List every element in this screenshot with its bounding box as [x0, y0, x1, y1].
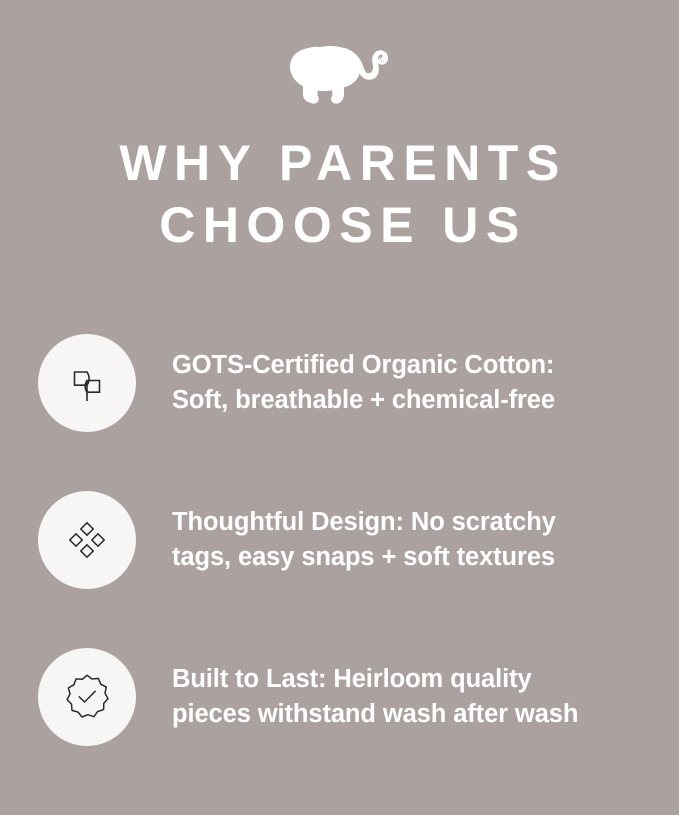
- check-badge-icon: [62, 672, 112, 722]
- brand-logo: [285, 38, 395, 110]
- benefits-list: GOTS-Certified Organic Cotton: Soft, bre…: [0, 334, 679, 746]
- page-title: WHY PARENTS CHOOSE US: [0, 132, 679, 256]
- benefit-icon-circle: [38, 491, 136, 589]
- benefit-icon-circle: [38, 334, 136, 432]
- benefit-text-line-1: Built to Last: Heirloom quality: [172, 665, 532, 693]
- page-title-line-2: CHOOSE US: [0, 194, 679, 256]
- benefit-item-thoughtful-design: Thoughtful Design: No scratchy tags, eas…: [0, 491, 679, 589]
- benefit-item-organic-cotton: GOTS-Certified Organic Cotton: Soft, bre…: [0, 334, 679, 432]
- why-parents-choose-us-panel: WHY PARENTS CHOOSE US GOTS-Certified Org…: [0, 0, 679, 815]
- benefit-text-line-2: pieces withstand wash after wash: [172, 700, 578, 728]
- benefit-text-line-2: Soft, breathable + chemical-free: [172, 386, 555, 414]
- benefit-text: Thoughtful Design: No scratchy tags, eas…: [172, 505, 556, 575]
- benefit-item-built-to-last: Built to Last: Heirloom quality pieces w…: [0, 648, 679, 746]
- benefit-text: GOTS-Certified Organic Cotton: Soft, bre…: [172, 348, 555, 418]
- benefit-text-line-1: Thoughtful Design: No scratchy: [172, 508, 556, 536]
- sprout-icon: [64, 360, 110, 406]
- page-title-line-1: WHY PARENTS: [0, 132, 679, 194]
- benefit-icon-circle: [38, 648, 136, 746]
- elephant-icon: [288, 41, 392, 107]
- benefit-text: Built to Last: Heirloom quality pieces w…: [172, 662, 578, 732]
- benefit-text-line-1: GOTS-Certified Organic Cotton:: [172, 351, 554, 379]
- benefit-text-line-2: tags, easy snaps + soft textures: [172, 543, 555, 571]
- four-diamonds-icon: [64, 517, 110, 563]
